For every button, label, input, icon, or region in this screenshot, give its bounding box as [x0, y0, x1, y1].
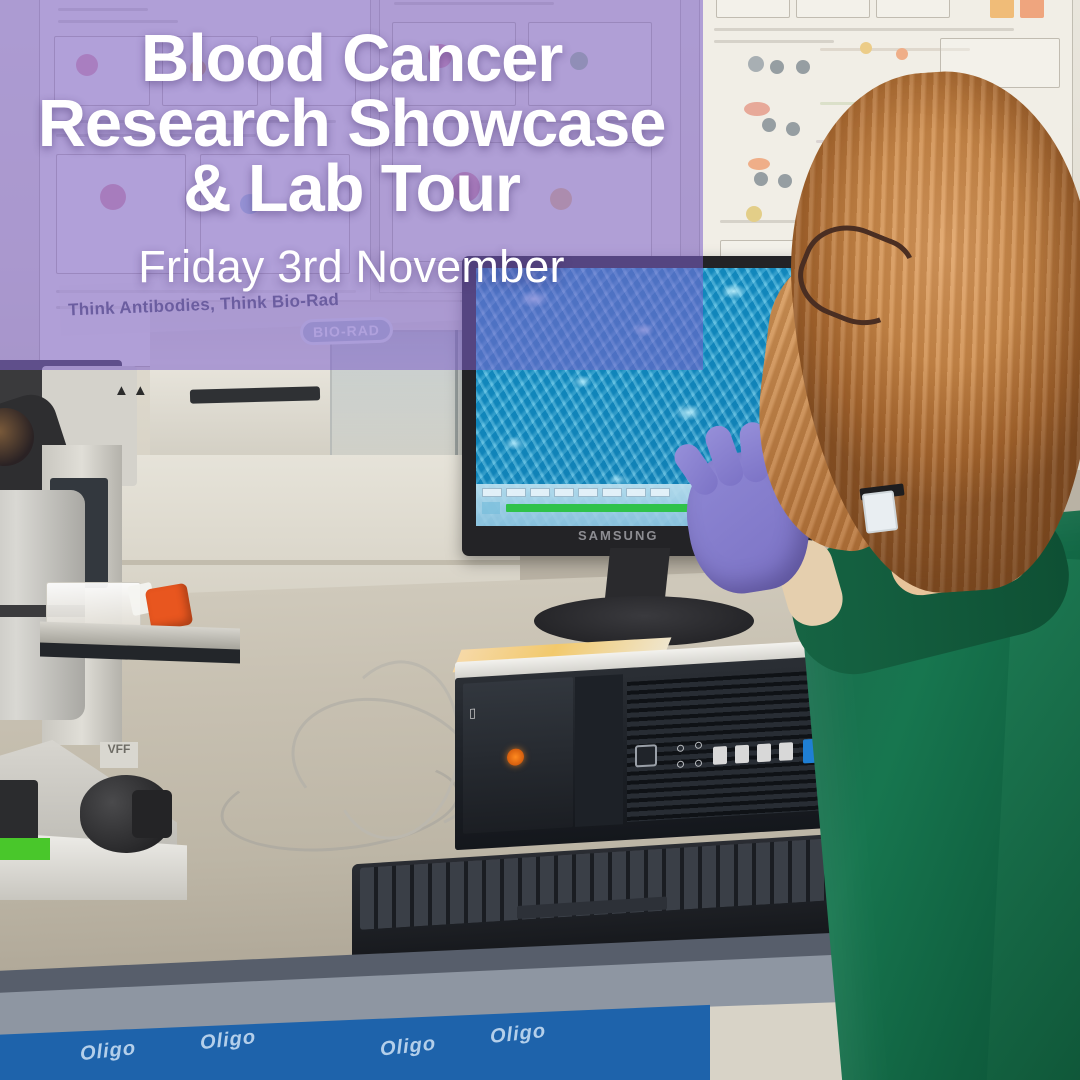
monitor-progress-bar: [506, 504, 706, 512]
microscope-warning-icon: ▲▲: [114, 382, 164, 398]
inverted-microscope: ▲▲ VFF Ti PFA: [0, 360, 242, 920]
poster-canvas: Think Antibodies, Think Bio-Rad BIO-RAD …: [0, 0, 1080, 1080]
microscope-filter-slot: [0, 780, 38, 842]
blue-panel-text-2: Oligo: [199, 1026, 257, 1055]
desktop-pc-tower: ▯: [455, 654, 865, 853]
microscope-fine-knob: [132, 790, 172, 838]
title-line-2: Research Showcase: [38, 91, 666, 156]
blue-panel-text-1: Oligo: [79, 1037, 137, 1066]
blue-panel-text-3: Oligo: [379, 1032, 437, 1061]
microscope-green-tape: Ti PFA: [0, 838, 50, 860]
event-date: Friday 3rd November: [138, 241, 564, 293]
title-line-3: & Lab Tour: [183, 156, 520, 221]
blue-panel-text-4: Oligo: [489, 1020, 547, 1049]
pc-second-bay: [575, 674, 623, 827]
monitor-brand-label: SAMSUNG: [578, 528, 658, 543]
title-block: Blood Cancer Research Showcase & Lab Tou…: [0, 0, 703, 370]
culture-flask-cap: [145, 583, 194, 632]
pc-power-button[interactable]: [635, 744, 657, 767]
title-line-1: Blood Cancer: [141, 26, 562, 91]
id-badge: [862, 490, 899, 534]
pc-eject-icon: ▯: [469, 705, 483, 722]
microscope-label: VFF: [100, 742, 138, 768]
